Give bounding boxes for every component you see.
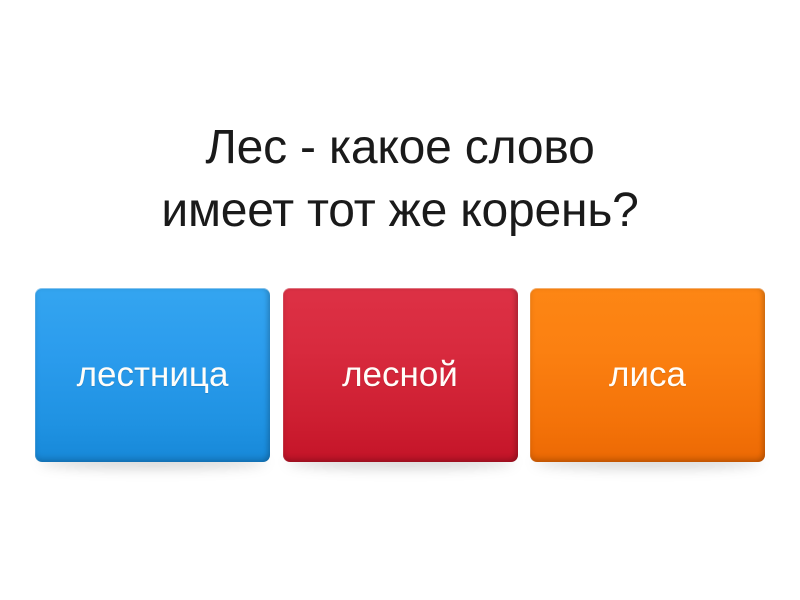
answer-option-3[interactable]: лиса: [530, 288, 765, 462]
answer-option-1-face: лестница: [35, 288, 270, 462]
answer-option-1-label: лестница: [69, 356, 237, 394]
question-text: Лес - какое слово имеет тот же корень?: [0, 116, 800, 242]
question-block: Лес - какое слово имеет тот же корень?: [0, 116, 800, 242]
answer-option-2-face: лесной: [283, 288, 518, 462]
answer-option-2[interactable]: лесной: [283, 288, 518, 462]
quiz-stage: Лес - какое слово имеет тот же корень? л…: [0, 0, 800, 600]
answer-option-3-label: лиса: [601, 356, 694, 394]
answer-option-2-label: лесной: [334, 356, 466, 394]
answer-option-3-face: лиса: [530, 288, 765, 462]
answer-options-row: лестница лесной лиса: [35, 288, 765, 464]
answer-option-1[interactable]: лестница: [35, 288, 270, 462]
